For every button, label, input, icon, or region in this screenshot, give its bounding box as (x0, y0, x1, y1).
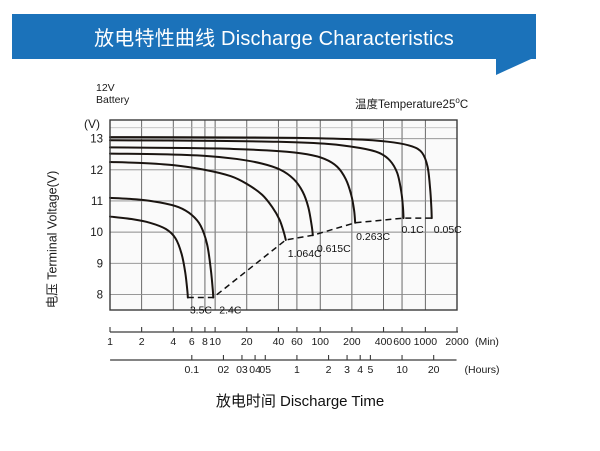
svg-text:11: 11 (91, 196, 103, 208)
chart-container: 12V Battery 温度Temperature25oC (V) 电压 Ter… (0, 70, 600, 451)
svg-text:20: 20 (241, 336, 253, 348)
svg-text:600: 600 (393, 336, 411, 348)
svg-text:40: 40 (273, 336, 285, 348)
svg-text:5: 5 (367, 364, 373, 376)
svg-text:05: 05 (259, 364, 271, 376)
header-banner: 放电特性曲线 Discharge Characteristics (12, 14, 536, 59)
svg-text:2: 2 (139, 336, 145, 348)
svg-text:1: 1 (294, 364, 300, 376)
curve-label-0.05C: 0.05C (434, 224, 462, 236)
svg-text:8: 8 (202, 336, 208, 348)
svg-text:10: 10 (396, 364, 408, 376)
svg-text:400: 400 (375, 336, 393, 348)
svg-text:(Min): (Min) (475, 336, 499, 348)
discharge-characteristics-page: 放电特性曲线 Discharge Characteristics 12V Bat… (0, 0, 600, 451)
svg-text:(Hours): (Hours) (465, 364, 500, 376)
curve-label-0.1C: 0.1C (402, 224, 425, 236)
svg-text:60: 60 (291, 336, 303, 348)
svg-text:13: 13 (90, 134, 103, 146)
svg-text:6: 6 (189, 336, 195, 348)
svg-text:4: 4 (357, 364, 363, 376)
curve-label-3.5C: 3.5C (190, 305, 213, 317)
svg-text:3: 3 (344, 364, 350, 376)
x-axis-title: 放电时间 Discharge Time (0, 390, 600, 411)
chart-plot-svg: 1312111098 12468102040601002004006001000… (0, 70, 600, 400)
svg-text:0.1: 0.1 (184, 364, 199, 376)
y-axis-ticks: 1312111098 (90, 134, 103, 302)
svg-text:12: 12 (90, 165, 103, 177)
svg-text:10: 10 (90, 227, 103, 239)
curve-label-2.4C: 2.4C (219, 305, 242, 317)
svg-text:200: 200 (343, 336, 361, 348)
svg-text:9: 9 (97, 258, 103, 270)
hours-axis: 0.102030405123451020(Hours) (110, 355, 499, 376)
svg-text:10: 10 (209, 336, 221, 348)
svg-text:03: 03 (236, 364, 248, 376)
svg-text:02: 02 (218, 364, 230, 376)
svg-text:100: 100 (311, 336, 329, 348)
svg-text:1: 1 (107, 336, 113, 348)
svg-text:8: 8 (97, 289, 103, 301)
page-title: 放电特性曲线 Discharge Characteristics (94, 22, 454, 51)
curve-label-0.615C: 0.615C (317, 243, 351, 255)
svg-text:2000: 2000 (445, 336, 469, 348)
minutes-axis: 124681020406010020040060010002000(Min) (107, 327, 499, 348)
svg-text:4: 4 (170, 336, 176, 348)
svg-text:1000: 1000 (414, 336, 438, 348)
curve-label-0.263C: 0.263C (356, 231, 390, 243)
svg-text:20: 20 (428, 364, 440, 376)
header-banner-body: 放电特性曲线 Discharge Characteristics (12, 14, 536, 59)
svg-text:2: 2 (326, 364, 332, 376)
